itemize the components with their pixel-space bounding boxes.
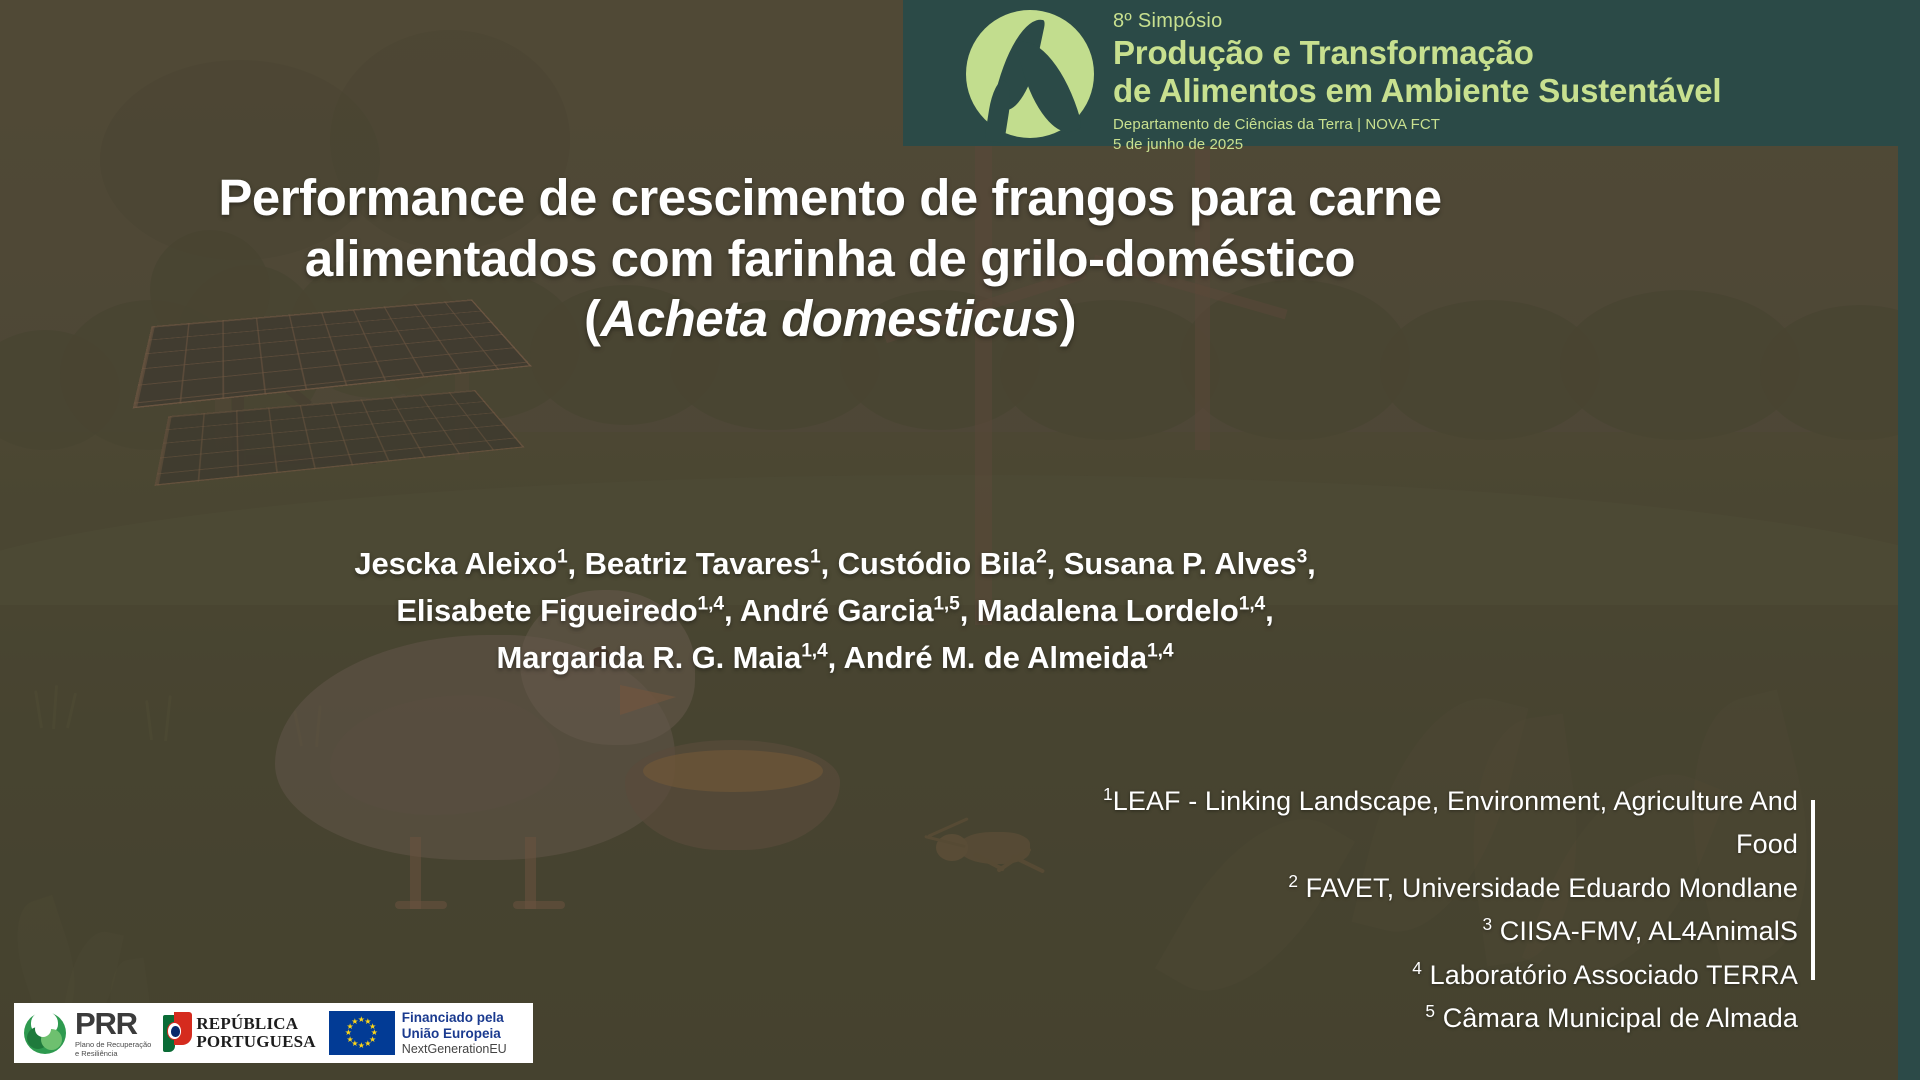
affiliation-marker: 3 <box>1482 914 1492 934</box>
page-title: Performance de crescimento de frangos pa… <box>130 168 1530 350</box>
affiliation-item: 1LEAF - Linking Landscape, Environment, … <box>1058 780 1798 867</box>
author-name: Jescka Aleixo <box>354 546 557 581</box>
affiliation-item: 5 Câmara Municipal de Almada <box>1058 997 1798 1040</box>
author-line: Jescka Aleixo1, Beatriz Tavares1, Custód… <box>140 540 1530 587</box>
eu-line-3: NextGenerationEU <box>402 1042 507 1056</box>
affiliation-vertical-rule <box>1811 800 1815 980</box>
right-edge-accent-strip <box>1898 0 1920 1080</box>
author-affiliation-marker: 2 <box>1036 547 1047 568</box>
funding-logo-strip: PRR Plano de Recuperação e Resiliência R… <box>14 1003 533 1063</box>
portugal-flag-icon <box>163 1011 192 1055</box>
author-separator: , <box>828 640 844 675</box>
author-name: André M. de Almeida <box>843 640 1147 675</box>
symposium-title-line-2: de Alimentos em Ambiente Sustentável <box>1113 72 1721 110</box>
author-separator: , <box>1307 546 1316 581</box>
author-affiliation-marker: 1,4 <box>1147 641 1173 662</box>
title-line-3: (Acheta domesticus) <box>130 289 1530 350</box>
affiliation-text: LEAF - Linking Landscape, Environment, A… <box>1113 786 1798 859</box>
affiliation-list: 1LEAF - Linking Landscape, Environment, … <box>1058 780 1798 1041</box>
symposium-header-band: 8º Simpósio Produção e Transformação de … <box>903 0 1900 146</box>
affiliation-marker: 2 <box>1288 871 1298 891</box>
author-name: Margarida R. G. Maia <box>497 640 802 675</box>
author-list: Jescka Aleixo1, Beatriz Tavares1, Custód… <box>140 540 1530 681</box>
symposium-header-text: 8º Simpósio Produção e Transformação de … <box>1113 10 1721 153</box>
republica-line-1: REPÚBLICA <box>196 1015 315 1033</box>
eu-flag-icon: ★★★★★★★★★★★★ <box>329 1011 395 1055</box>
prr-logo: PRR Plano de Recuperação e Resiliência <box>20 1007 151 1059</box>
author-separator: , <box>821 546 838 581</box>
author-name: Custódio Bila <box>838 546 1036 581</box>
affiliation-item: 4 Laboratório Associado TERRA <box>1058 954 1798 997</box>
eu-star-icon: ★ <box>358 1042 365 1050</box>
prr-text-block: PRR Plano de Recuperação e Resiliência <box>75 1008 151 1059</box>
symposium-eyebrow: 8º Simpósio <box>1113 10 1721 33</box>
eu-star-icon: ★ <box>364 1040 371 1048</box>
prr-acronym: PRR <box>75 1008 151 1039</box>
republica-text-block: REPÚBLICA PORTUGUESA <box>196 1015 315 1051</box>
author-affiliation-marker: 1,4 <box>801 641 827 662</box>
title-line-2: alimentados com farinha de grilo-domésti… <box>130 229 1530 290</box>
author-affiliation-marker: 1,4 <box>1239 594 1265 615</box>
affiliation-text: CIISA-FMV, AL4AnimalS <box>1492 916 1798 946</box>
prr-shape-center <box>35 1021 51 1037</box>
author-affiliation-marker: 1 <box>810 547 821 568</box>
affiliation-marker: 5 <box>1425 1001 1435 1021</box>
author-separator: , <box>1047 546 1064 581</box>
author-line: Margarida R. G. Maia1,4, André M. de Alm… <box>140 634 1530 681</box>
title-line-1: Performance de crescimento de frangos pa… <box>130 168 1530 229</box>
author-separator: , <box>568 546 585 581</box>
author-separator: , <box>724 593 740 628</box>
author-name: Elisabete Figueiredo <box>396 593 697 628</box>
eu-text-block: Financiado pela União Europeia NextGener… <box>402 1010 507 1055</box>
affiliation-item: 2 FAVET, Universidade Eduardo Mondlane <box>1058 867 1798 910</box>
eu-star-icon: ★ <box>351 1018 358 1026</box>
paren-open: ( <box>584 290 600 347</box>
author-affiliation-marker: 1 <box>557 547 568 568</box>
symposium-title-line-1: Produção e Transformação <box>1113 34 1721 72</box>
affiliation-text: Laboratório Associado TERRA <box>1422 960 1798 990</box>
author-separator: , <box>960 593 977 628</box>
leaf-circle-logo-icon <box>966 10 1094 138</box>
affiliation-item: 3 CIISA-FMV, AL4AnimalS <box>1058 910 1798 953</box>
prr-subtitle-line-2: e Resiliência <box>75 1049 151 1058</box>
eu-line-2: União Europeia <box>402 1026 507 1041</box>
symposium-date: 5 de junho de 2025 <box>1113 136 1721 153</box>
scientific-name: Acheta domesticus <box>600 290 1059 347</box>
presentation-slide: 8º Simpósio Produção e Transformação de … <box>0 0 1920 1080</box>
flag-shield-inner <box>171 1026 180 1037</box>
republica-line-2: PORTUGUESA <box>196 1033 315 1051</box>
author-name: Madalena Lordelo <box>977 593 1239 628</box>
symposium-department: Departamento de Ciências da Terra | NOVA… <box>1113 116 1721 133</box>
author-separator: , <box>1265 593 1274 628</box>
affiliation-text: Câmara Municipal de Almada <box>1435 1003 1798 1033</box>
author-name: Beatriz Tavares <box>585 546 810 581</box>
republica-portuguesa-logo: REPÚBLICA PORTUGUESA <box>151 1007 315 1059</box>
paren-close: ) <box>1060 290 1076 347</box>
affiliation-marker: 4 <box>1412 958 1422 978</box>
author-name: Susana P. Alves <box>1064 546 1297 581</box>
author-name: André Garcia <box>740 593 934 628</box>
author-affiliation-marker: 1,5 <box>933 594 959 615</box>
eu-funding-logo: ★★★★★★★★★★★★ Financiado pela União Europ… <box>316 1007 507 1059</box>
affiliation-text: FAVET, Universidade Eduardo Mondlane <box>1298 873 1798 903</box>
prr-subtitle: Plano de Recuperação e Resiliência <box>75 1040 151 1059</box>
author-affiliation-marker: 1,4 <box>698 594 724 615</box>
eu-line-1: Financiado pela <box>402 1010 507 1025</box>
author-line: Elisabete Figueiredo1,4, André Garcia1,5… <box>140 587 1530 634</box>
prr-recycle-logo-icon <box>24 1010 70 1056</box>
prr-subtitle-line-1: Plano de Recuperação <box>75 1040 151 1049</box>
affiliation-marker: 1 <box>1103 784 1113 804</box>
author-affiliation-marker: 3 <box>1297 547 1308 568</box>
